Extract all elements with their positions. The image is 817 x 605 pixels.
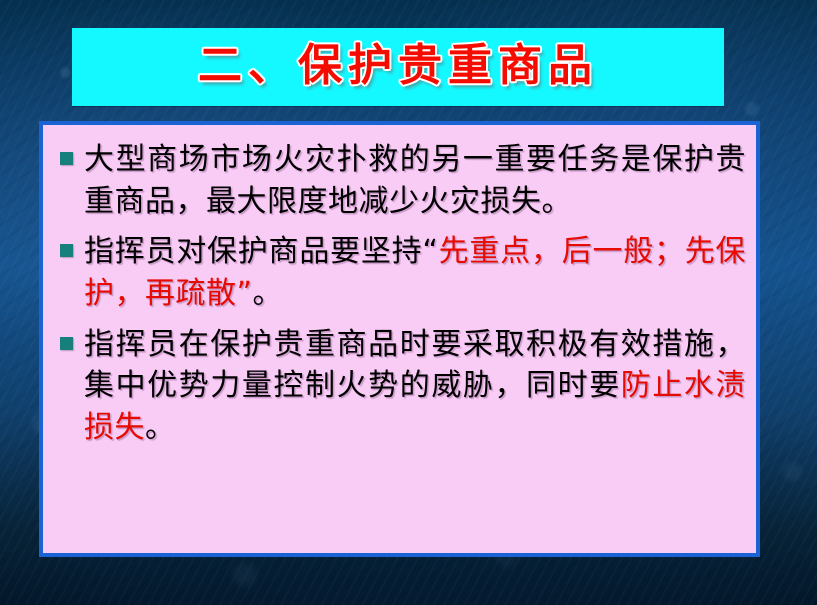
title-banner: 二、保护贵重商品 <box>72 28 724 106</box>
bullet-text-3: 指挥员在保护贵重商品时要采取积极有效措施，集中优势力量控制火势的威胁，同时要防止… <box>84 324 746 449</box>
square-bullet-icon <box>60 337 73 350</box>
square-bullet-icon <box>60 244 73 257</box>
page-title: 二、保护贵重商品 <box>198 44 598 88</box>
presentation-slide: 二、保护贵重商品 大型商场市场火灾扑救的另一重要任务是保护贵重商品，最大限度地减… <box>0 0 817 605</box>
bullet-item-1: 大型商场市场火灾扑救的另一重要任务是保护贵重商品，最大限度地减少火灾损失。 <box>51 139 746 222</box>
content-panel: 大型商场市场火灾扑救的另一重要任务是保护贵重商品，最大限度地减少火灾损失。 指挥… <box>39 121 760 557</box>
square-bullet-icon <box>60 152 73 165</box>
bullet-item-3: 指挥员在保护贵重商品时要采取积极有效措施，集中优势力量控制火势的威胁，同时要防止… <box>51 324 746 449</box>
bullet-text-2: 指挥员对保护商品要坚持“先重点，后一般；先保护，再疏散”。 <box>84 231 746 314</box>
bullet-2-segment-3: 。 <box>253 276 284 311</box>
bullet-2-segment-1: 指挥员对保护商品要坚持“ <box>84 234 438 269</box>
bullet-3-segment-3: 。 <box>145 410 176 445</box>
bullet-text-1: 大型商场市场火灾扑救的另一重要任务是保护贵重商品，最大限度地减少火灾损失。 <box>84 139 746 222</box>
bullet-item-2: 指挥员对保护商品要坚持“先重点，后一般；先保护，再疏散”。 <box>51 231 746 314</box>
bullet-1-segment-1: 大型商场市场火灾扑救的另一重要任务是保护贵重商品，最大限度地减少火灾损失。 <box>84 142 746 219</box>
